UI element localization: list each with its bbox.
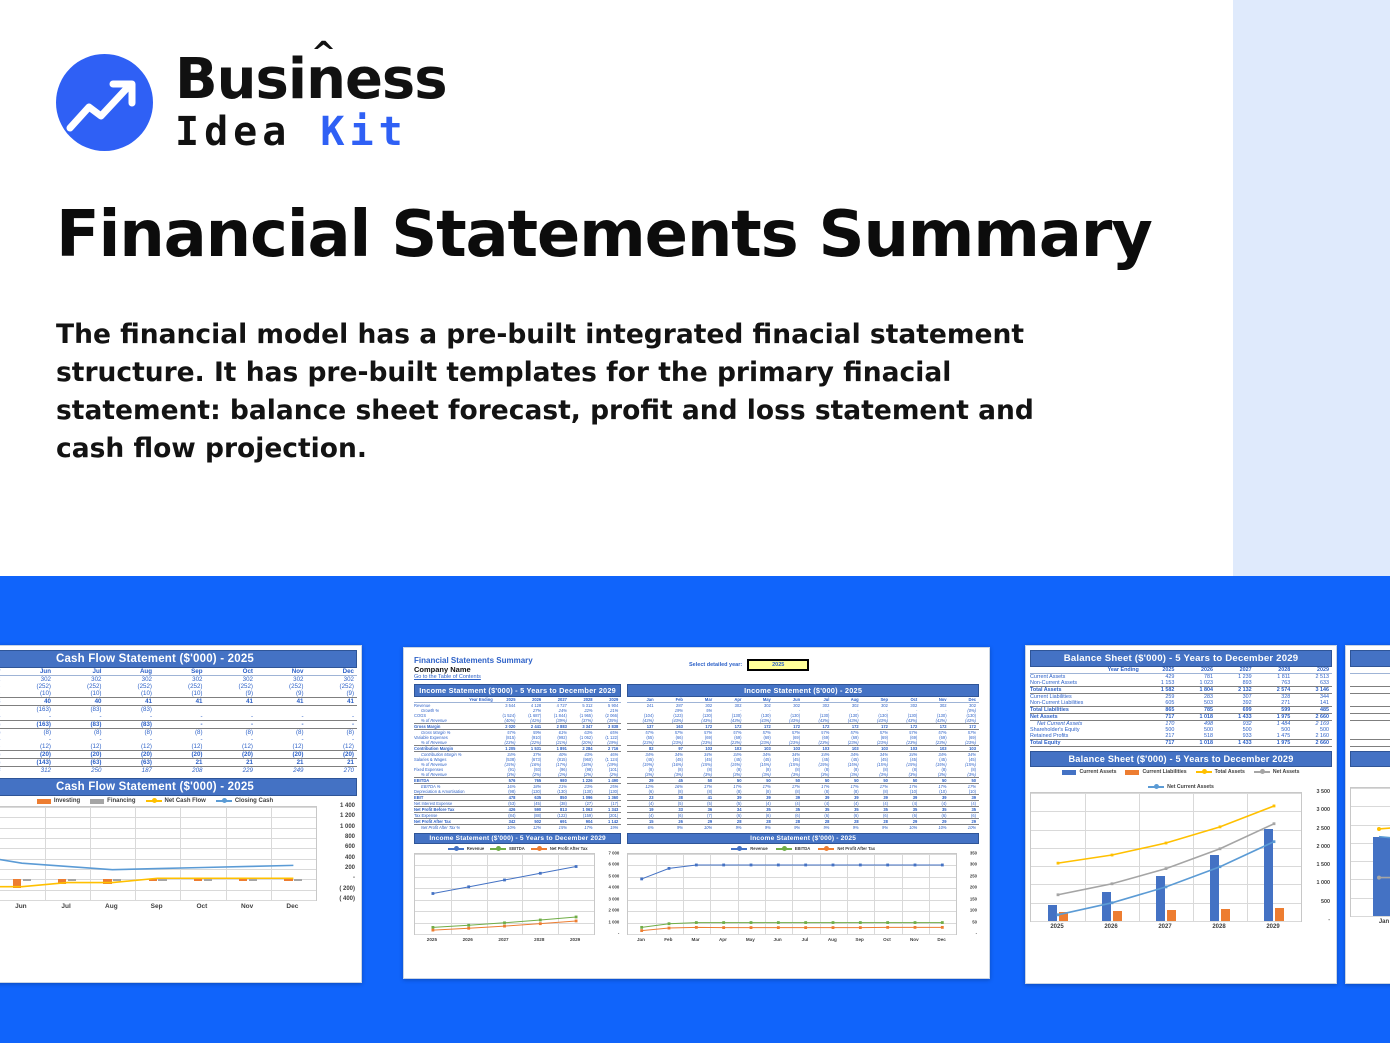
x-axis-tick: 2029 bbox=[1266, 924, 1279, 930]
y-axis-tick: 1 400 bbox=[340, 803, 355, 809]
x-axis-tick: Jan bbox=[637, 937, 645, 942]
legend-item: Closing Cash bbox=[216, 798, 273, 804]
legend-item: EBITDA bbox=[776, 846, 811, 851]
x-axis-tick: Aug bbox=[105, 903, 118, 910]
far-chart-legend bbox=[1350, 769, 1390, 785]
brand-logo: Business ^ Idea Kit bbox=[56, 52, 447, 152]
income-2025-chart: 35030025020015010050- JanFebMarAprMayJun… bbox=[627, 853, 979, 951]
table-row: (21)(20)(20)(20)(20)(20)(20)(20) bbox=[0, 751, 357, 759]
page-title: Financial Statements Summary bbox=[56, 198, 1176, 272]
year-selector-input[interactable]: 2025 bbox=[747, 659, 809, 671]
y-axis-tick: 1 500 bbox=[1317, 862, 1331, 868]
x-axis-tick: Dec bbox=[286, 903, 298, 910]
y-axis-tick: 400 bbox=[345, 855, 355, 861]
table-row: 6%9%10%9%9%9%9%9%9%10%10%10% bbox=[627, 825, 979, 831]
y-axis-tick: 250 bbox=[970, 873, 977, 878]
y-axis-tick: 300 bbox=[970, 862, 977, 867]
x-axis-tick: 2026 bbox=[1104, 924, 1117, 930]
table-row: (141)(143)(63)(63)21212121 bbox=[0, 759, 357, 767]
y-axis-tick: 1 000 bbox=[1317, 880, 1331, 886]
x-axis-tick: 2027 bbox=[1158, 924, 1171, 930]
cash-flow-table-title: Cash Flow Statement ($'000) - 2025 bbox=[0, 650, 357, 668]
upward-trend-arrow-icon bbox=[56, 54, 153, 151]
income-5y-table: Year Ending20252026202720282029Revenue3 … bbox=[414, 697, 621, 830]
x-axis-tick: Jun bbox=[15, 903, 27, 910]
legend-item: Current Assets bbox=[1062, 769, 1116, 775]
balance-sheet-monthly-screenshot[interactable]: Jan1 1741241 297936927865121 08150012512… bbox=[1345, 645, 1390, 984]
hero-section: Business ^ Idea Kit Financial Statements… bbox=[0, 0, 1390, 576]
balance-sheet-table: Year Ending20252026202720282029Current A… bbox=[1030, 667, 1332, 747]
x-axis-tick: Aug bbox=[828, 937, 837, 942]
x-axis-tick: 2028 bbox=[534, 937, 544, 942]
x-axis-tick: 2028 bbox=[1212, 924, 1225, 930]
legend-item: Revenue bbox=[731, 846, 767, 851]
income-2025-table: JanFebMarAprMayJunJulAugSepOctNovDec2412… bbox=[627, 697, 979, 830]
x-axis-tick: Jul bbox=[61, 903, 70, 910]
x-axis-tick: Dec bbox=[937, 937, 945, 942]
legend-item: Net Assets bbox=[1254, 769, 1300, 775]
far-title bbox=[1350, 650, 1390, 667]
y-axis-tick: 100 bbox=[970, 908, 977, 913]
table-row: 1 297 bbox=[1350, 687, 1390, 694]
table-row: 786 bbox=[1350, 707, 1390, 714]
cash-flow-table: MayJunJulAugSepOctNovDec3023023023023023… bbox=[0, 668, 357, 774]
x-axis-tick: Mar bbox=[692, 937, 700, 942]
y-axis-tick: - bbox=[618, 931, 619, 936]
y-axis-tick: - bbox=[353, 875, 355, 881]
year-selector-label: Select detailed year: bbox=[689, 662, 742, 668]
y-axis-tick: 150 bbox=[970, 896, 977, 901]
legend-item: Financing bbox=[90, 798, 135, 804]
x-axis-tick: Sep bbox=[151, 903, 163, 910]
cash-flow-screenshot[interactable]: Cash Flow Statement ($'000) - 2025 MayJu… bbox=[0, 645, 362, 983]
y-axis-tick: 800 bbox=[345, 834, 355, 840]
y-axis-tick: 3 500 bbox=[1317, 789, 1331, 795]
far-chart: Jan bbox=[1350, 787, 1390, 935]
y-axis-tick: 6 000 bbox=[609, 862, 620, 867]
income-5y-title: Income Statement ($'000) - 5 Years to De… bbox=[414, 684, 621, 697]
legend-item: EBITDA bbox=[490, 846, 525, 851]
x-axis-tick: May bbox=[746, 937, 755, 942]
table-header-row: MayJunJulAugSepOctNovDec bbox=[0, 668, 357, 676]
x-axis-tick: Oct bbox=[196, 903, 207, 910]
y-axis-tick: 2 000 bbox=[1317, 844, 1331, 850]
table-row: -------- bbox=[0, 736, 357, 743]
x-axis-tick: Jul bbox=[802, 937, 809, 942]
y-axis-tick: 7 000 bbox=[609, 851, 620, 856]
income-5y-chart: 7 0006 0005 0004 0003 0002 0001 000- 202… bbox=[414, 853, 621, 951]
y-axis-tick: 1 000 bbox=[609, 919, 620, 924]
table-row: Net Profit After Tax %10%12%15%17%19% bbox=[414, 825, 621, 831]
legend-item: Net Profit After Tax bbox=[531, 846, 588, 851]
table-row: 512 bbox=[1350, 740, 1390, 747]
y-axis-tick: 4 000 bbox=[609, 885, 620, 890]
brand-name-secondary: Idea Kit bbox=[175, 112, 447, 152]
x-axis-tick: Feb bbox=[664, 937, 672, 942]
x-axis-tick: Sep bbox=[855, 937, 863, 942]
table-row: (8)(8)(8)(8)(8)(8)(8)(8) bbox=[0, 729, 357, 737]
y-axis-tick: 350 bbox=[970, 851, 977, 856]
legend-item: Net Profit After Tax bbox=[818, 846, 875, 851]
y-axis-tick: ( 200) bbox=[339, 886, 355, 892]
table-row: (13)(12)(12)(12)(12)(12)(12)(12) bbox=[0, 743, 357, 751]
x-axis-tick: Apr bbox=[719, 937, 727, 942]
balance-sheet-chart-legend: Current AssetsCurrent LiabilitiesTotal A… bbox=[1030, 769, 1332, 790]
balance-sheet-screenshot[interactable]: Balance Sheet ($'000) - 5 Years to Decem… bbox=[1025, 645, 1337, 984]
x-axis-tick: 2025 bbox=[427, 937, 437, 942]
legend-item: Net Current Assets bbox=[1148, 784, 1214, 790]
far-chart-title bbox=[1350, 751, 1390, 767]
x-axis-tick: Oct bbox=[883, 937, 891, 942]
y-axis-tick: 50 bbox=[972, 919, 977, 924]
table-row: -------- bbox=[0, 713, 357, 721]
y-axis-tick: 600 bbox=[345, 844, 355, 850]
y-axis-tick: 500 bbox=[1321, 899, 1330, 905]
legend-item: Net Cash Flow bbox=[146, 798, 206, 804]
y-axis-tick: ( 400) bbox=[339, 896, 355, 902]
income-5y-chart-title: Income Statement ($'000) - 5 Years to De… bbox=[414, 833, 621, 844]
far-table: Jan1 1741241 297936927865121 08150012512 bbox=[1350, 667, 1390, 747]
x-axis-tick: 2025 bbox=[1050, 924, 1063, 930]
y-axis-tick: 200 bbox=[970, 885, 977, 890]
brand-name-primary: Business ^ bbox=[175, 52, 447, 108]
x-axis-tick: Jan bbox=[1379, 919, 1389, 925]
table-row: (249)(252)(252)(252)(252)(252)(252)(252) bbox=[0, 683, 357, 690]
cash-flow-chart-title: Cash Flow Statement ($'000) - 2025 bbox=[0, 778, 357, 796]
legend-item: Revenue bbox=[448, 846, 484, 851]
cash-flow-chart: 1 4001 2001 000800600400200-( 200)( 400)… bbox=[0, 806, 357, 918]
decorative-right-band bbox=[1233, 0, 1390, 576]
y-axis-tick: 1 200 bbox=[340, 813, 355, 819]
x-axis-tick: Nov bbox=[241, 903, 253, 910]
page-description: The financial model has a pre-built inte… bbox=[56, 316, 1086, 468]
y-axis-tick: 2 500 bbox=[1317, 826, 1331, 832]
income-2025-chart-title: Income Statement ($'000) - 2025 bbox=[627, 833, 979, 844]
legend-item: Total Assets bbox=[1196, 769, 1245, 775]
income-2025-title: Income Statement ($'000) - 2025 bbox=[627, 684, 979, 697]
legend-item: Current Liabilities bbox=[1125, 769, 1186, 775]
table-row: Total Assets1 5821 8042 1322 5743 146 bbox=[1030, 687, 1332, 694]
table-row: Net Assets7171 0181 4331 9752 660 bbox=[1030, 714, 1332, 721]
circumflex-accent: ^ bbox=[311, 39, 335, 69]
y-axis-tick: 3 000 bbox=[1317, 807, 1331, 813]
cash-flow-chart-legend: InvestingFinancingNet Cash FlowClosing C… bbox=[0, 798, 357, 804]
y-axis-tick: 2 000 bbox=[609, 908, 620, 913]
table-row: 512 bbox=[1350, 714, 1390, 721]
balance-sheet-chart-title: Balance Sheet ($'000) - 5 Years to Decem… bbox=[1030, 751, 1332, 767]
table-row: (163)(163)(83)(83)---- bbox=[0, 721, 357, 729]
y-axis-tick: 1 000 bbox=[340, 824, 355, 830]
income-2025-chart-legend: RevenueEBITDANet Profit After Tax bbox=[627, 846, 979, 851]
y-axis-tick: 3 000 bbox=[609, 896, 620, 901]
income-5y-chart-legend: RevenueEBITDANet Profit After Tax bbox=[414, 846, 621, 851]
brand-kit-text: Kit bbox=[320, 109, 407, 155]
legend-item: Investing bbox=[37, 798, 80, 804]
y-axis-tick: - bbox=[976, 931, 977, 936]
table-row: 456312250187208229249270 bbox=[0, 767, 357, 775]
x-axis-tick: Nov bbox=[910, 937, 919, 942]
y-axis-tick: 200 bbox=[345, 865, 355, 871]
financial-summary-screenshot[interactable]: Financial Statements Summary Company Nam… bbox=[403, 647, 990, 979]
table-row: (10)(10)(10)(10)(10)(9)(9)(9) bbox=[0, 690, 357, 698]
balance-sheet-table-title: Balance Sheet ($'000) - 5 Years to Decem… bbox=[1030, 650, 1332, 667]
table-row: Total Equity7171 0181 4331 9752 660 bbox=[1030, 740, 1332, 747]
y-axis-tick: 5 000 bbox=[609, 873, 620, 878]
x-axis-tick: Jun bbox=[774, 937, 782, 942]
table-row: (163)(163)(83)(83) bbox=[0, 706, 357, 714]
table-row: Total Liabilities865785699599485 bbox=[1030, 707, 1332, 714]
x-axis-tick: 2029 bbox=[570, 937, 580, 942]
table-row: 4340404141414141 bbox=[0, 698, 357, 706]
year-selector-group[interactable]: Select detailed year: 2025 bbox=[689, 659, 809, 671]
x-axis-tick: 2027 bbox=[498, 937, 508, 942]
table-row: 302302302302302302302302 bbox=[0, 676, 357, 684]
x-axis-tick: 2026 bbox=[463, 937, 473, 942]
brand-idea-text: Idea bbox=[175, 109, 291, 155]
balance-sheet-chart: 3 5003 0002 5002 0001 5001 000500- 20252… bbox=[1030, 792, 1332, 940]
y-axis-tick: - bbox=[1328, 917, 1330, 923]
